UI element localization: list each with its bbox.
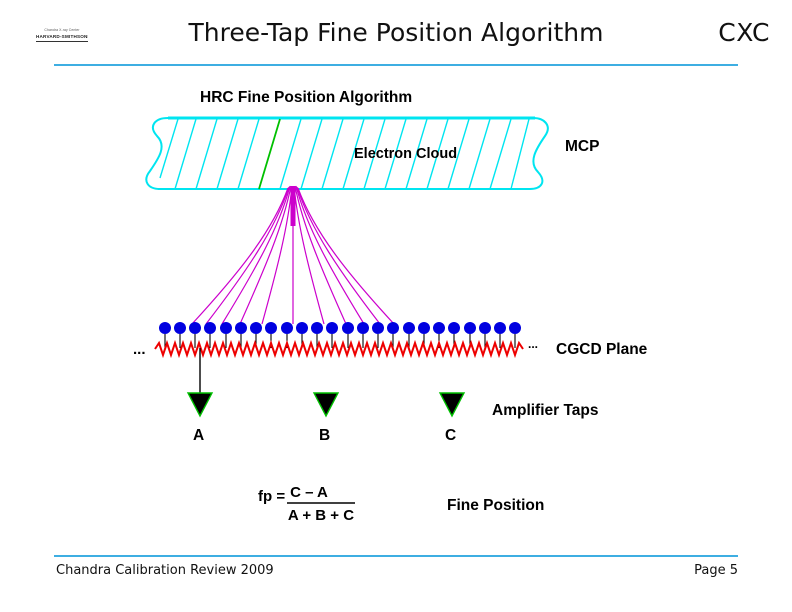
formula-numerator: C – A — [290, 484, 328, 501]
fine-position-formula: fp = C – A A + B + C Fine Position — [258, 484, 544, 524]
cgcd-plane-graphic: ... ... CGCD Plane — [133, 322, 648, 358]
tap-a-marker: A — [188, 393, 212, 444]
formula-lhs: fp = — [258, 488, 285, 505]
tap-b-label: B — [319, 427, 330, 444]
figure-hrc-fine-position-diagram: HRC Fine Position Algorithm — [0, 66, 792, 556]
slide-header: Chandra X-ray Center HARVARD-SMITHSONIAN… — [0, 0, 792, 66]
amplifier-taps-graphic: A B C Amplifier Taps — [188, 348, 599, 444]
tap-b-marker: B — [314, 393, 338, 444]
formula-denominator: A + B + C — [288, 507, 354, 524]
cgcd-plane-label: CGCD Plane — [556, 341, 648, 358]
cgcd-ellipsis-right: ... — [528, 337, 538, 351]
tap-c-marker: C — [440, 393, 464, 444]
footer-divider-rule — [54, 555, 738, 557]
page-title: Three-Tap Fine Position Algorithm — [0, 18, 792, 47]
footer-conference-text: Chandra Calibration Review 2009 — [56, 563, 274, 578]
tap-a-label: A — [193, 427, 204, 444]
tap-c-label: C — [445, 427, 456, 444]
footer-page-number: Page 5 — [694, 563, 738, 578]
fine-position-label: Fine Position — [447, 497, 544, 514]
cgcd-ellipsis-left: ... — [133, 341, 146, 358]
figure-caption: HRC Fine Position Algorithm — [200, 89, 412, 106]
electron-cloud-label: Electron Cloud — [354, 146, 457, 162]
cxc-brand-logo: CXC — [718, 18, 770, 47]
mcp-label: MCP — [565, 138, 599, 155]
cgcd-charge-pads — [159, 322, 521, 334]
amplifier-taps-label: Amplifier Taps — [492, 402, 599, 419]
